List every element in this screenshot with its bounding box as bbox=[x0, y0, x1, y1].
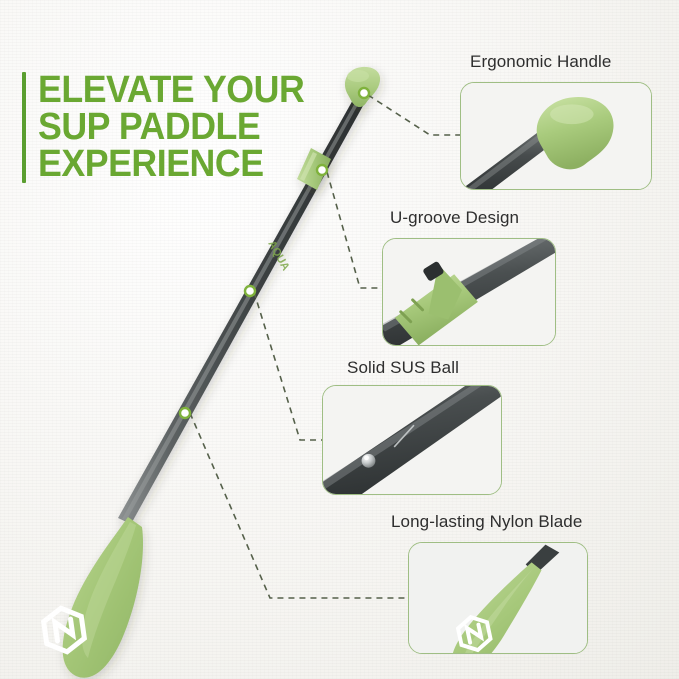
callout-box-solid-sus-ball[interactable] bbox=[322, 385, 502, 495]
callout-label-nylon-blade: Long-lasting Nylon Blade bbox=[391, 512, 582, 532]
u-groove-detail-image bbox=[383, 239, 555, 345]
callout-label-solid-sus-ball: Solid SUS Ball bbox=[347, 358, 459, 378]
callout-box-u-groove-design[interactable] bbox=[382, 238, 556, 346]
infographic-canvas: ELEVATE YOUR SUP PADDLE EXPERIENCE bbox=[0, 0, 679, 679]
callout-box-ergonomic-handle[interactable] bbox=[460, 82, 652, 190]
handle-detail-image bbox=[461, 83, 651, 189]
callout-box-nylon-blade[interactable] bbox=[408, 542, 588, 654]
paddle-blade bbox=[63, 517, 143, 678]
sus-ball-detail-image bbox=[323, 386, 501, 494]
nylon-blade-detail-image bbox=[409, 543, 587, 653]
callout-label-ergonomic-handle: Ergonomic Handle bbox=[470, 52, 611, 72]
callout-label-u-groove-design: U-groove Design bbox=[390, 208, 519, 228]
